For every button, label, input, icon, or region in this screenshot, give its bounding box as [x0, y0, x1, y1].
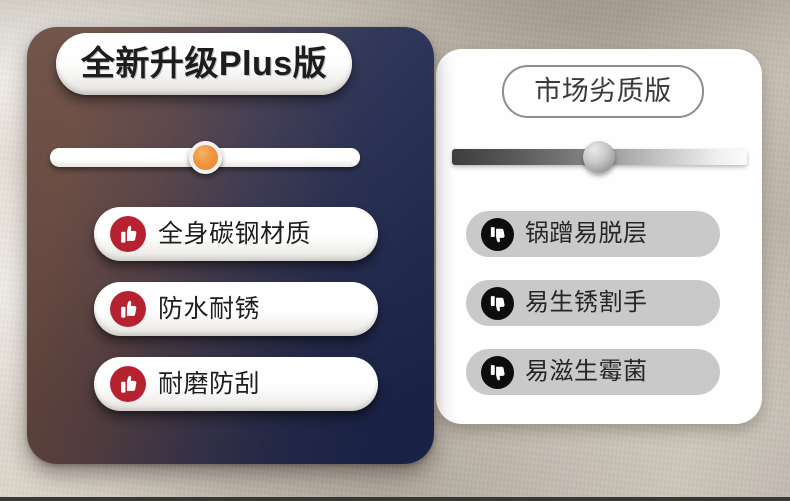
- list-item-label: 易滋生霉菌: [525, 360, 648, 384]
- bottom-edge-strip: [0, 497, 790, 501]
- thumbs-up-icon: [110, 216, 146, 252]
- thumbs-down-icon: [481, 287, 514, 320]
- inferior-title-text: 市场劣质版: [534, 78, 672, 105]
- list-item: 易生锈割手: [466, 280, 720, 326]
- thumbs-down-icon: [481, 356, 514, 389]
- list-item-label: 耐磨防刮: [158, 372, 260, 397]
- premium-slider-knob[interactable]: [189, 141, 222, 174]
- list-item-label: 易生锈割手: [525, 291, 648, 315]
- list-item: 防水耐锈: [94, 282, 378, 336]
- list-item: 锅蹭易脱层: [466, 211, 720, 257]
- thumbs-up-icon: [110, 366, 146, 402]
- quality-slider-inferior[interactable]: [452, 149, 747, 165]
- list-item-label: 防水耐锈: [158, 297, 260, 322]
- list-item-label: 全身碳钢材质: [158, 222, 311, 247]
- list-item: 易滋生霉菌: [466, 349, 720, 395]
- thumbs-down-icon: [481, 218, 514, 251]
- quality-slider-premium[interactable]: [50, 148, 360, 167]
- list-item-label: 锅蹭易脱层: [525, 222, 648, 246]
- thumbs-up-icon: [110, 291, 146, 327]
- inferior-slider-knob[interactable]: [583, 141, 615, 173]
- list-item: 耐磨防刮: [94, 357, 378, 411]
- comparison-infographic: 全新升级Plus版 市场劣质版 全身碳钢材质 防水耐锈: [0, 0, 790, 501]
- inferior-title-badge: 市场劣质版: [502, 65, 704, 118]
- list-item: 全身碳钢材质: [94, 207, 378, 261]
